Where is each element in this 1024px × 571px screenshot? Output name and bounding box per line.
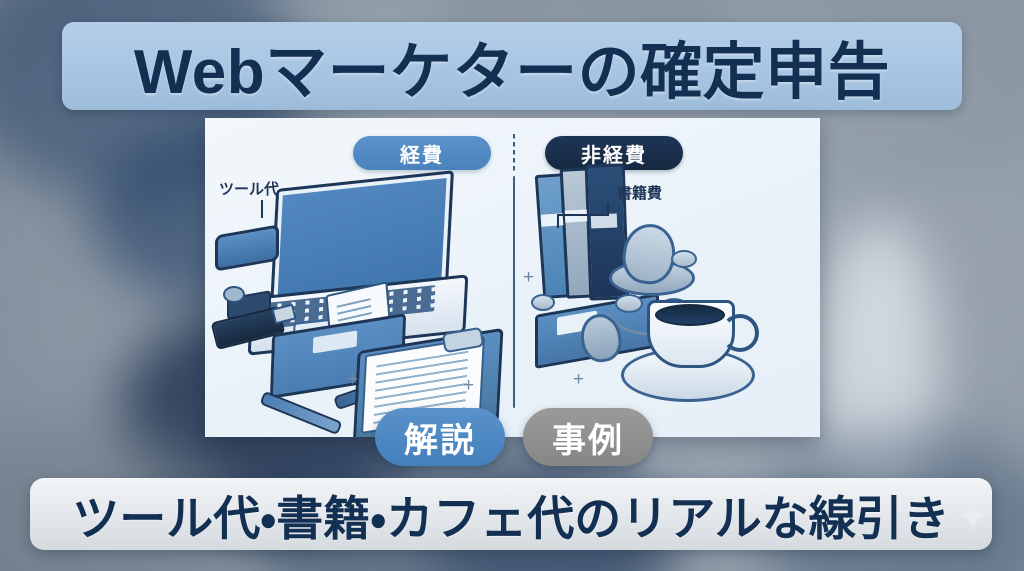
coffee-liquid-icon	[655, 304, 725, 326]
callout-tool-cost: ツール代	[219, 178, 279, 199]
divider-solid	[513, 176, 515, 408]
cup-handle-icon	[721, 314, 759, 352]
badge-expense: 経費	[353, 136, 491, 170]
tag-explanation[interactable]: 解説	[375, 408, 505, 466]
badge-expense-label: 経費	[400, 139, 444, 168]
coin-icon	[531, 294, 555, 311]
tag-case-study[interactable]: 事例	[523, 408, 653, 466]
title-bar: Webマーケターの確定申告	[62, 22, 962, 110]
coin-icon	[615, 294, 643, 313]
sparkle-icon: ✦	[956, 500, 990, 534]
plus-icon: +	[463, 376, 474, 395]
callout-leader-line	[557, 214, 559, 228]
tag-explanation-label: 解説	[404, 413, 476, 462]
coin-icon	[671, 250, 697, 268]
tag-case-study-label: 事例	[552, 413, 624, 462]
divider-dotted	[513, 134, 515, 172]
pen-icon	[259, 391, 342, 435]
external-drive-icon	[215, 224, 279, 271]
subtitle-text: ツール代・書籍・カフェ代のリアルな線引き	[72, 480, 950, 549]
illustration-card: 経費 非経費	[205, 118, 820, 437]
page-title: Webマーケターの確定申告	[134, 22, 890, 110]
plus-icon: +	[523, 268, 534, 287]
subtitle-bar: ツール代・書籍・カフェ代のリアルな線引き	[30, 478, 992, 550]
callout-leader-line	[557, 214, 609, 216]
small-disc-icon	[223, 286, 245, 303]
book-band-icon	[565, 209, 588, 222]
callout-book-cost: 書籍費	[617, 182, 662, 203]
plus-icon: +	[347, 370, 358, 389]
plus-icon: +	[573, 370, 584, 389]
callout-leader-line	[261, 200, 263, 218]
thumbnail-banner: Webマーケターの確定申告 経費 非経費	[0, 0, 1024, 571]
